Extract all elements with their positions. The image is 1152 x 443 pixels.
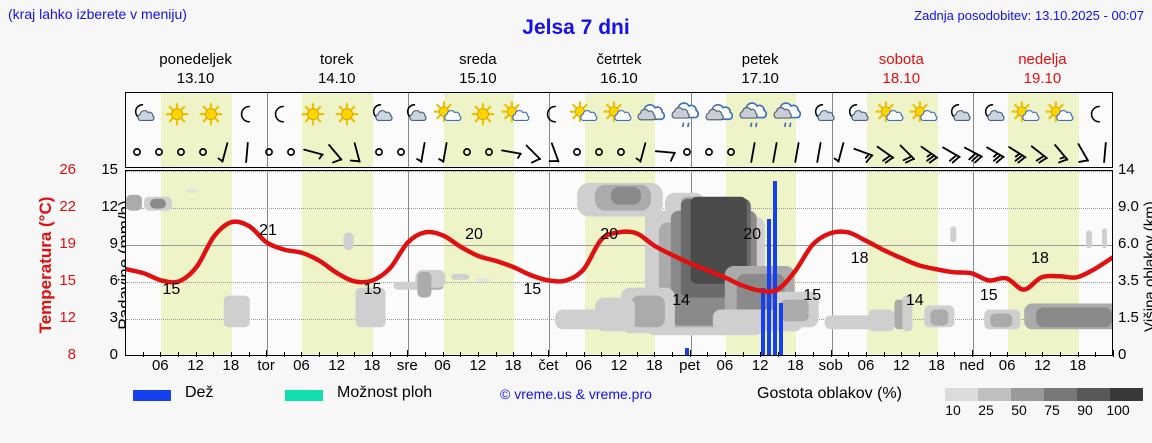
wind-barb [368, 136, 390, 168]
time-tick-label: sre [397, 357, 418, 374]
time-tick [160, 352, 161, 357]
time-tick [760, 352, 761, 357]
temperature-tick-4: 12 [59, 309, 76, 326]
cloud-density-color-ramp [945, 388, 1143, 401]
time-tick [690, 350, 691, 357]
time-tick [266, 350, 267, 357]
cloud-rain-icon [772, 94, 806, 136]
time-tick [478, 352, 479, 357]
sun-icon [194, 94, 228, 136]
precipitation-tick-0: 15 [101, 161, 118, 178]
time-tick-label: 06 [717, 357, 734, 374]
wind-barb [522, 136, 544, 168]
cloud-ramp-label: 10 [945, 402, 961, 418]
day-name: nedelja [972, 50, 1113, 69]
temperature-label: 15 [364, 281, 382, 299]
time-tick-label: 12 [1034, 357, 1051, 374]
time-tick-label: 06 [293, 357, 310, 374]
moon-icon [1078, 94, 1112, 136]
time-tick [848, 352, 849, 357]
wind-barb [500, 136, 522, 168]
time-tick [231, 352, 232, 357]
wind-barb [434, 136, 456, 168]
time-tick-label: 18 [223, 357, 240, 374]
time-tick [337, 352, 338, 357]
wind-barb [698, 136, 720, 168]
sun-icon [296, 94, 330, 136]
wind-barb [1072, 136, 1094, 168]
wind-barb [412, 136, 434, 168]
sun-cloud-icon [908, 94, 942, 136]
time-tick [1007, 352, 1008, 357]
wind-barb [830, 136, 852, 168]
day-name: torek [266, 50, 407, 69]
day-date: 17.10 [690, 69, 831, 88]
time-tick-label: ned [959, 357, 984, 374]
time-tick-label: 06 [152, 357, 169, 374]
wind-barb [148, 136, 170, 168]
day-name: ponedeljek [125, 50, 266, 69]
moon-cloud-icon [942, 94, 976, 136]
moon-cloud-icon [398, 94, 432, 136]
day-header-6: nedelja19.10 [972, 50, 1113, 92]
weather-symbol-panel [125, 92, 1113, 168]
rain-legend-swatch [133, 390, 171, 401]
time-tick [654, 352, 655, 357]
day-header-2: sreda15.10 [407, 50, 548, 92]
day-name: sreda [407, 50, 548, 69]
time-tick-label: 18 [787, 357, 804, 374]
wind-barb [1028, 136, 1050, 168]
time-tick [372, 352, 373, 357]
time-tick [937, 352, 938, 357]
cloud-height-tick-0: 14 [1118, 161, 1135, 178]
wind-barb [236, 136, 258, 168]
time-tick [725, 352, 726, 357]
time-tick-label: tor [257, 357, 275, 374]
time-tick [619, 352, 620, 357]
time-tick [778, 352, 779, 357]
time-axis: 061218tor061218sre061218čet061218pet0612… [125, 357, 1113, 379]
wind-barb [676, 136, 698, 168]
time-tick-label: 12 [470, 357, 487, 374]
time-tick [990, 352, 991, 357]
showers-legend-swatch [285, 390, 323, 401]
day-date: 14.10 [266, 69, 407, 88]
cloud-density-legend-label: Gostota oblakov (%) [757, 385, 902, 403]
weather-icon-row [126, 94, 1112, 136]
time-tick [196, 352, 197, 357]
time-tick [1113, 350, 1114, 357]
wind-barb [610, 136, 632, 168]
temperature-label: 21 [259, 222, 277, 240]
time-tick [831, 350, 832, 357]
wind-barb [984, 136, 1006, 168]
moon-cloud-icon [126, 94, 160, 136]
time-tick [919, 352, 920, 357]
time-tick [425, 352, 426, 357]
time-tick-label: čet [538, 357, 558, 374]
time-tick-label: 06 [999, 357, 1016, 374]
wind-barb [764, 136, 786, 168]
time-tick [443, 352, 444, 357]
time-tick [284, 352, 285, 357]
time-tick-label: 12 [752, 357, 769, 374]
time-tick [301, 352, 302, 357]
sun-icon [330, 94, 364, 136]
wind-barb [456, 136, 478, 168]
cloud-ramp-label: 50 [1011, 402, 1027, 418]
time-tick [1095, 352, 1096, 357]
temperature-label: 15 [162, 281, 180, 299]
wind-barb [214, 136, 236, 168]
temperature-tick-3: 15 [59, 272, 76, 289]
precipitation-tick-4: 3 [110, 309, 118, 326]
time-tick-label: 12 [187, 357, 204, 374]
moon-icon [228, 94, 262, 136]
time-tick-label: 12 [328, 357, 345, 374]
temperature-value-labels: 15211520152014201518141518 [126, 171, 1112, 355]
sun-cloud-icon [432, 94, 466, 136]
time-tick [866, 352, 867, 357]
time-tick [178, 352, 179, 357]
precipitation-tick-1: 12 [101, 198, 118, 215]
day-header-0: ponedeljek13.10 [125, 50, 266, 92]
wind-barb [544, 136, 566, 168]
day-name: petek [690, 50, 831, 69]
time-tick-label: pet [679, 357, 700, 374]
meteogram-plot: 15211520152014201518141518 [125, 170, 1113, 356]
day-date: 18.10 [831, 69, 972, 88]
time-tick [407, 350, 408, 357]
cloud-icon [704, 94, 738, 136]
precipitation-tick-2: 9 [110, 235, 118, 252]
temperature-label: 15 [980, 287, 998, 305]
rain-legend-label: Dež [185, 384, 213, 402]
temperature-label: 18 [851, 250, 869, 268]
temperature-label: 18 [1031, 250, 1049, 268]
wind-barb [962, 136, 984, 168]
time-tick-label: 12 [611, 357, 628, 374]
wind-barb [632, 136, 654, 168]
cloud-rain-icon [670, 94, 704, 136]
time-tick-label: 06 [434, 357, 451, 374]
time-tick [513, 352, 514, 357]
wind-barb [1006, 136, 1028, 168]
sun-cloud-icon [568, 94, 602, 136]
cloud-density-ramp-ticks: 1025507590100 [935, 402, 1152, 420]
cloud-height-tick-4: 1.5 [1118, 309, 1139, 326]
wind-barb [302, 136, 324, 168]
cloud-ramp-label: 75 [1044, 402, 1060, 418]
day-header-3: četrtek16.10 [548, 50, 689, 92]
wind-barb [170, 136, 192, 168]
precipitation-tick-5: 0 [110, 346, 118, 363]
day-date: 16.10 [548, 69, 689, 88]
day-date: 15.10 [407, 69, 548, 88]
cloud-ramp-step-100 [1110, 388, 1143, 401]
sun-cloud-icon [602, 94, 636, 136]
cloud-icon [636, 94, 670, 136]
cloud-height-tick-3: 3.5 [1118, 272, 1139, 289]
time-tick-label: 18 [505, 357, 522, 374]
cloud-ramp-step-90 [1077, 388, 1110, 401]
temperature-label: 15 [523, 281, 541, 299]
cloud-ramp-step-75 [1044, 388, 1077, 401]
precipitation-axis-ticks: 15129630 [76, 170, 118, 356]
time-tick [548, 350, 549, 357]
temperature-label: 15 [803, 287, 821, 305]
wind-barb [852, 136, 874, 168]
cloud-rain-icon [738, 94, 772, 136]
sun-cloud-icon [500, 94, 534, 136]
cloud-height-tick-2: 6.0 [1118, 235, 1139, 252]
time-tick [460, 352, 461, 357]
day-date: 13.10 [125, 69, 266, 88]
day-date: 19.10 [972, 69, 1113, 88]
time-tick [584, 352, 585, 357]
temperature-tick-0: 26 [59, 161, 76, 178]
precipitation-tick-3: 6 [110, 272, 118, 289]
time-tick [901, 352, 902, 357]
wind-barb [566, 136, 588, 168]
time-tick [249, 352, 250, 357]
cloud-height-tick-1: 9.0 [1118, 198, 1139, 215]
cloud-ramp-step-50 [1011, 388, 1044, 401]
showers-legend-label: Možnost ploh [337, 384, 432, 402]
sun-icon [160, 94, 194, 136]
wind-barb-row [126, 136, 1112, 168]
sun-cloud-icon [874, 94, 908, 136]
wind-barb [258, 136, 280, 168]
wind-barb [1050, 136, 1072, 168]
time-tick [743, 352, 744, 357]
wind-barb [874, 136, 896, 168]
temperature-axis-ticks: 26221915128 [28, 170, 76, 356]
time-tick [213, 352, 214, 357]
wind-barb [346, 136, 368, 168]
day-name: sobota [831, 50, 972, 69]
legend: Dež Možnost ploh © vreme.us & vreme.pro … [125, 386, 1145, 430]
temperature-label: 20 [743, 226, 761, 244]
time-tick [1078, 352, 1079, 357]
time-tick [531, 352, 532, 357]
time-tick-label: sob [819, 357, 843, 374]
copyright-link[interactable]: © vreme.us & vreme.pro [500, 386, 652, 402]
cloud-height-tick-5: 0 [1118, 346, 1126, 363]
last-update-label: Zadnja posodobitev: 13.10.2025 - 00:07 [914, 8, 1144, 23]
day-name: četrtek [548, 50, 689, 69]
time-tick [601, 352, 602, 357]
time-tick [884, 352, 885, 357]
cloud-height-axis-ticks: 149.06.03.51.50 [1118, 170, 1152, 356]
time-tick [566, 352, 567, 357]
temperature-tick-2: 19 [59, 235, 76, 252]
time-tick-label: 06 [575, 357, 592, 374]
time-tick-label: 18 [1069, 357, 1086, 374]
wind-barb [896, 136, 918, 168]
time-tick [319, 352, 320, 357]
moon-cloud-icon [806, 94, 840, 136]
time-tick-label: 12 [893, 357, 910, 374]
time-tick [707, 352, 708, 357]
cloud-ramp-label: 25 [978, 402, 994, 418]
wind-barb [742, 136, 764, 168]
temperature-label: 14 [672, 292, 690, 310]
wind-barb [588, 136, 610, 168]
wind-barb [918, 136, 940, 168]
wind-barb [280, 136, 302, 168]
time-tick [1060, 352, 1061, 357]
temperature-label: 14 [906, 292, 924, 310]
day-header-4: petek17.10 [690, 50, 831, 92]
time-tick [954, 352, 955, 357]
time-tick [637, 352, 638, 357]
time-tick-label: 18 [646, 357, 663, 374]
moon-cloud-icon [840, 94, 874, 136]
day-header-row: ponedeljek13.10torek14.10sreda15.10četrt… [125, 50, 1113, 92]
wind-barb [192, 136, 214, 168]
time-tick [813, 352, 814, 357]
time-tick [496, 352, 497, 357]
cloud-ramp-step-10 [945, 388, 978, 401]
wind-barb [478, 136, 500, 168]
time-tick [972, 350, 973, 357]
wind-barb [808, 136, 830, 168]
cloud-ramp-label: 100 [1106, 402, 1129, 418]
time-tick-label: 18 [928, 357, 945, 374]
day-header-1: torek14.10 [266, 50, 407, 92]
wind-barb [1094, 136, 1113, 168]
wind-barb [654, 136, 676, 168]
time-tick [795, 352, 796, 357]
cloud-ramp-label: 90 [1077, 402, 1093, 418]
time-tick [1025, 352, 1026, 357]
time-tick-label: 06 [858, 357, 875, 374]
time-tick [672, 352, 673, 357]
wind-barb [940, 136, 962, 168]
moon-icon [262, 94, 296, 136]
temperature-tick-5: 8 [68, 346, 76, 363]
temperature-tick-1: 22 [59, 198, 76, 215]
temperature-label: 20 [600, 226, 618, 244]
wind-barb [786, 136, 808, 168]
wind-barb [126, 136, 148, 168]
wind-barb [390, 136, 412, 168]
cloud-ramp-step-25 [978, 388, 1011, 401]
temperature-label: 20 [465, 226, 483, 244]
moon-icon [534, 94, 568, 136]
time-tick [143, 352, 144, 357]
time-tick-label: 18 [364, 357, 381, 374]
sun-cloud-icon [1010, 94, 1044, 136]
moon-cloud-icon [976, 94, 1010, 136]
time-tick [1042, 352, 1043, 357]
day-header-5: sobota18.10 [831, 50, 972, 92]
wind-barb [324, 136, 346, 168]
time-tick [390, 352, 391, 357]
sun-icon [466, 94, 500, 136]
sun-cloud-icon [1044, 94, 1078, 136]
wind-barb [720, 136, 742, 168]
moon-cloud-icon [364, 94, 398, 136]
time-tick [354, 352, 355, 357]
